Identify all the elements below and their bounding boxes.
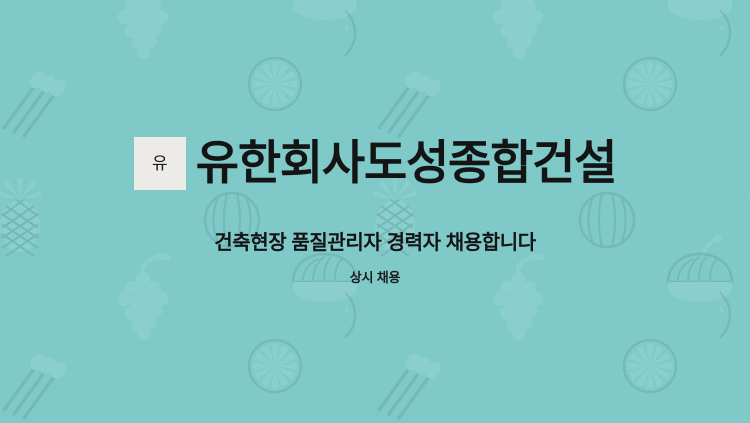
company-initial-badge: 유 — [134, 137, 186, 190]
job-headline: 건축현장 품질관리자 경력자 채용합니다 — [214, 230, 535, 256]
company-title-row: 유 유한회사도성종합건설 — [134, 137, 616, 190]
banner-content: 유 유한회사도성종합건설 건축현장 품질관리자 경력자 채용합니다 상시 채용 — [0, 0, 750, 423]
company-name: 유한회사도성종합건설 — [196, 138, 616, 187]
job-subnote: 상시 채용 — [350, 270, 400, 287]
company-initial-text: 유 — [152, 155, 168, 172]
job-posting-banner: 유 유한회사도성종합건설 건축현장 품질관리자 경력자 채용합니다 상시 채용 — [0, 0, 750, 423]
